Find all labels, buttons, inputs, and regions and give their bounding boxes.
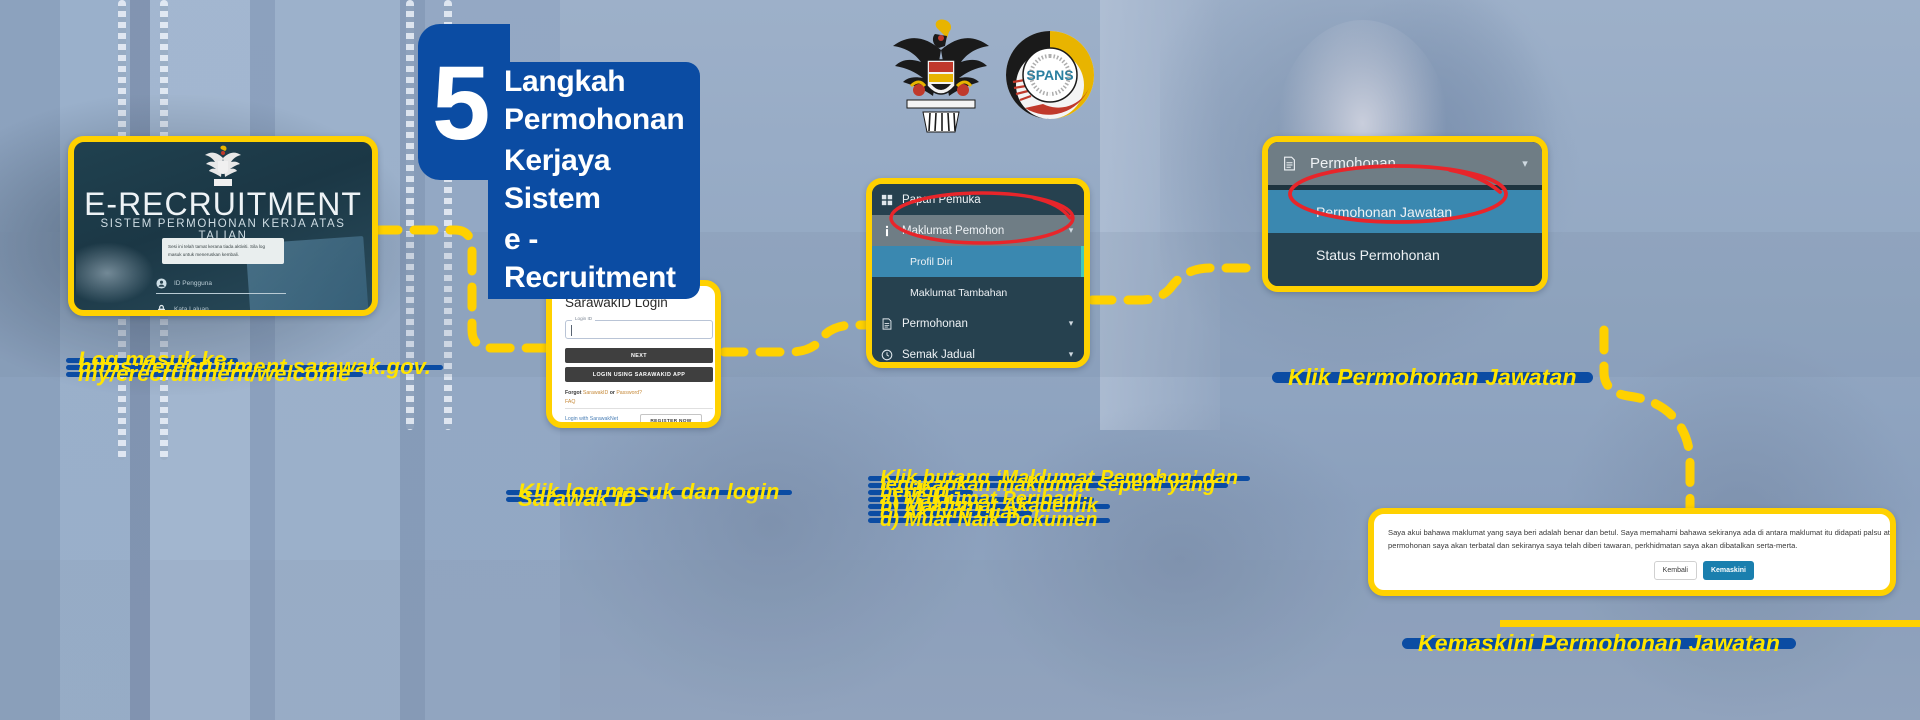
text-caret <box>571 325 572 336</box>
menu-label: Papan Pemuka <box>902 194 1058 206</box>
login-id-label: Login ID <box>572 316 595 321</box>
caption-line: d) Muat Naik Dokumen <box>868 518 1110 523</box>
menu-label: Permohonan <box>902 318 1058 330</box>
info-icon <box>872 225 902 237</box>
sarawak-state-crest-logo <box>885 16 997 136</box>
confirmation-dialog-screenshot: Saya akui bahawa maklumat yang saya beri… <box>1368 508 1896 596</box>
chevron-down-icon[interactable]: ▾ <box>1058 349 1084 360</box>
menu-label: Profil Diri <box>910 256 1084 268</box>
caption-step-5: Kemaskini Permohonan Jawatan <box>1402 638 1796 651</box>
spans-logo: SPANS <box>1005 30 1095 120</box>
user-id-field[interactable]: ID Pengguna <box>156 274 286 294</box>
session-expired-alert: Sesi ini telah tamat kerana tiada aktivi… <box>162 238 284 264</box>
title-step-count: 5 <box>432 60 487 148</box>
help-links: Forgot SarawakID or Password? FAQ <box>565 389 642 407</box>
caption-line: my/erecruitment/welcome <box>66 372 363 377</box>
forgot-password-link[interactable]: Password? <box>616 390 642 396</box>
caption-step-1: Log masuk ke https://erecruitment.sarawa… <box>66 358 443 379</box>
menu-label: Permohonan <box>1310 155 1508 172</box>
divider <box>565 408 713 409</box>
chevron-down-icon[interactable]: ▾ <box>1058 318 1084 329</box>
next-button[interactable]: NEXT <box>565 348 713 363</box>
erecruitment-login-screenshot: E-RECRUITMENT SISTEM PERMOHONAN KERJA AT… <box>68 136 378 316</box>
caption-line: Kemaskini Permohonan Jawatan <box>1402 638 1796 649</box>
menu-label: Semak Jadual <box>1310 289 1508 292</box>
infographic-canvas: 5 Langkah Permohonan Kerjaya Sistem e - … <box>0 0 1920 720</box>
applicant-menu-screenshot: Papan Pemuka Maklumat Pemohon ▾ Profil D… <box>866 178 1090 368</box>
kemaskini-button[interactable]: Kemaskini <box>1703 561 1754 580</box>
document-icon <box>1268 156 1310 171</box>
document-icon <box>872 318 902 330</box>
menu-item-maklumat-tambahan[interactable]: Maklumat Tambahan <box>872 277 1084 308</box>
menu-item-status-permohonan[interactable]: Status Permohonan <box>1268 233 1542 276</box>
title-line-1: Langkah Permohonan <box>488 62 700 141</box>
kembali-button[interactable]: Kembali <box>1654 561 1697 580</box>
chevron-down-icon[interactable]: ▾ <box>1058 225 1084 236</box>
lock-icon <box>156 304 167 315</box>
user-circle-icon <box>156 278 167 289</box>
sarawakid-login-screenshot: SarawakID Login Login ID NEXT LOGIN USIN… <box>546 280 721 428</box>
menu-item-semak-jadual[interactable]: Semak Jadual ▾ <box>872 339 1084 368</box>
dashboard-icon <box>872 194 902 206</box>
faq-link[interactable]: FAQ <box>565 399 575 405</box>
sarawak-crest-icon <box>201 144 245 188</box>
menu-label: Semak Jadual <box>902 349 1058 361</box>
clock-icon <box>872 349 902 361</box>
bottom-accent-rule <box>1500 620 1920 627</box>
title-line-2: Kerjaya Sistem <box>488 141 700 220</box>
application-menu-screenshot: Permohonan ▾ Permohonan Jawatan Status P… <box>1262 136 1548 292</box>
menu-label: Maklumat Pemohon <box>902 225 1058 237</box>
forgot-sarawakid-link[interactable]: SarawakID <box>583 390 608 396</box>
login-id-input[interactable]: Login ID <box>565 320 713 339</box>
caption-step-2: Klik log masuk dan login Sarawak ID <box>506 490 792 504</box>
no-account-text: Don't have an account yet? <box>565 424 628 428</box>
password-placeholder: Kata Laluan <box>174 306 209 313</box>
forgot-label: Forgot <box>565 390 583 396</box>
password-field[interactable]: Kata Laluan <box>156 300 286 316</box>
caption-step-3: Klik butang ‘Maklumat Pemohon’ dan lengk… <box>868 476 1250 525</box>
clock-icon <box>1268 290 1310 292</box>
menu-item-papan-pemuka[interactable]: Papan Pemuka <box>872 184 1084 215</box>
menu-item-maklumat-pemohon[interactable]: Maklumat Pemohon ▾ <box>872 215 1084 246</box>
caption-line: Sarawak ID <box>506 497 648 502</box>
login-with-sarawaknet-link[interactable]: Login with SarawakNet <box>565 414 628 424</box>
menu-label: Status Permohonan <box>1316 247 1542 263</box>
menu-label: Maklumat Tambahan <box>910 287 1084 299</box>
declaration-text: Saya akui bahawa maklumat yang saya beri… <box>1388 527 1896 552</box>
account-footer: Login with SarawakNet Don't have an acco… <box>565 414 628 428</box>
login-using-app-button[interactable]: LOGIN USING SARAWAKID APP <box>565 367 713 382</box>
menu-item-permohonan[interactable]: Permohonan ▾ <box>872 308 1084 339</box>
register-now-button[interactable]: REGISTER NOW <box>640 414 702 428</box>
caption-step-4: Klik Permohonan Jawatan <box>1272 372 1593 385</box>
chevron-down-icon[interactable]: ▾ <box>1508 157 1542 170</box>
title-text-block: Langkah Permohonan Kerjaya Sistem e - Re… <box>488 62 700 299</box>
menu-item-permohonan[interactable]: Permohonan ▾ <box>1268 142 1542 185</box>
screenshot-background-hand <box>76 242 154 304</box>
user-id-placeholder: ID Pengguna <box>174 280 212 287</box>
menu-item-semak-jadual[interactable]: Semak Jadual ▾ <box>1268 276 1542 292</box>
caption-line: Klik Permohonan Jawatan <box>1272 372 1593 383</box>
title-line-3: e - Recruitment <box>488 220 700 299</box>
menu-label: Permohonan Jawatan <box>1316 204 1542 220</box>
dialog-actions: Kembali Kemaskini <box>1654 561 1754 580</box>
menu-item-permohonan-jawatan[interactable]: Permohonan Jawatan <box>1268 190 1542 233</box>
menu-item-profil-diri[interactable]: Profil Diri <box>872 246 1084 277</box>
